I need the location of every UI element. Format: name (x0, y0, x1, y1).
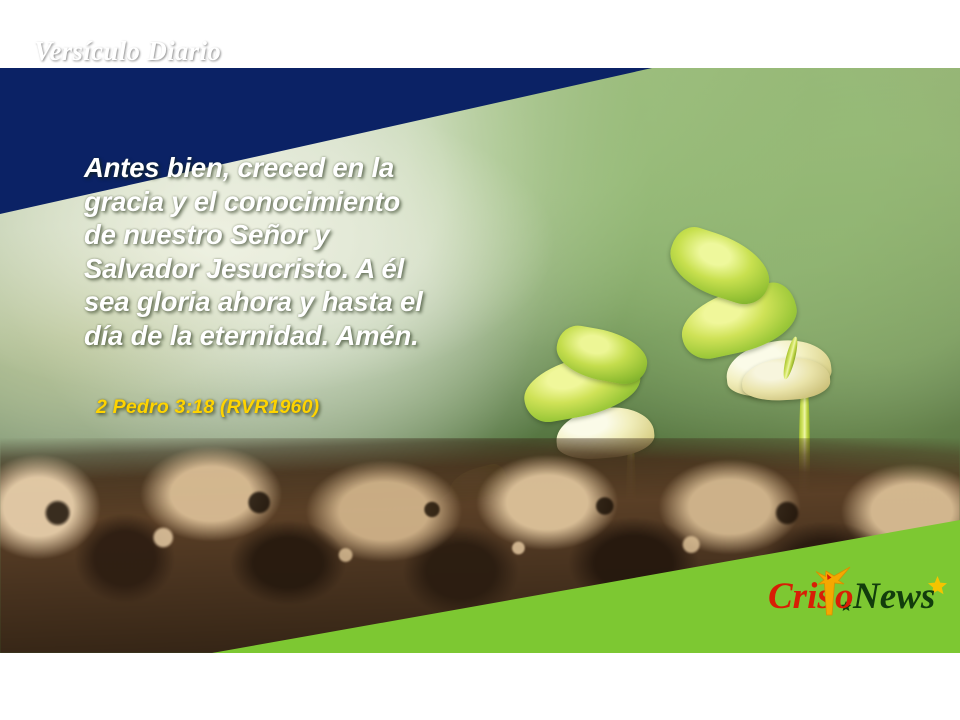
logo-text-o: o (835, 576, 854, 617)
verse-line: día de la eternidad. Amén. (84, 319, 504, 353)
cristonews-logo[interactable]: Cris o News (764, 565, 954, 623)
logo-artwork: Cris o News (764, 565, 954, 623)
verse-line: Antes bien, creced en la (84, 151, 504, 185)
page-title: Versículo Diario (34, 36, 221, 67)
verse-line: de nuestro Señor y (84, 218, 504, 252)
verse-line: sea gloria ahora y hasta el (84, 285, 504, 319)
slide-canvas: Versículo Diario Antes bien, creced en l… (0, 0, 960, 720)
verse-text: Antes bien, creced en la gracia y el con… (84, 151, 504, 352)
verse-line: gracia y el conocimiento (84, 185, 504, 219)
verse-reference: 2 Pedro 3:18 (RVR1960) (96, 396, 319, 419)
verse-line: Salvador Jesucristo. A él (84, 252, 504, 286)
logo-text-news: News (852, 576, 935, 617)
